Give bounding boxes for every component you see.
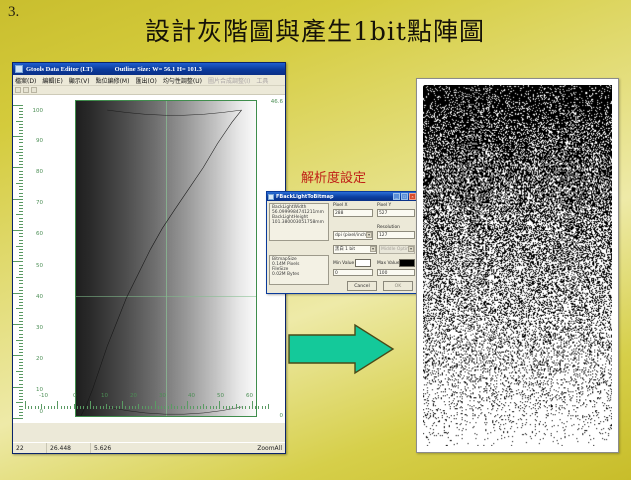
green-arrow-icon bbox=[287, 323, 395, 375]
dialog-icon bbox=[268, 194, 274, 200]
dialog-title: FBackLightToBitmap bbox=[276, 194, 393, 200]
x-tick-10: 10 bbox=[101, 393, 108, 399]
y-tick-70: 70 bbox=[36, 200, 43, 206]
chevron-down-icon[interactable]: ▾ bbox=[366, 232, 372, 238]
status-field-3: 5.626 bbox=[91, 443, 245, 453]
maximize-button[interactable]: □ bbox=[401, 193, 408, 200]
menu-item-export[interactable]: 匯出(O) bbox=[135, 76, 156, 85]
close-icon[interactable]: × bbox=[409, 193, 416, 200]
y-tick-100: 100 bbox=[33, 108, 44, 114]
editor-statusbar: 22 26.448 5.626 ZoomAll bbox=[13, 442, 285, 453]
y-tick-40: 40 bbox=[36, 294, 43, 300]
optimum-arrow-wrap: ▾ bbox=[379, 245, 415, 254]
pixel-y-input[interactable]: 527 bbox=[377, 209, 415, 217]
pixel-y-label: Pixel Y bbox=[377, 203, 391, 208]
min-value-color-swatch[interactable] bbox=[355, 259, 371, 267]
x-tick-20: 20 bbox=[130, 393, 137, 399]
unit-select-arrow-wrap: ▾ bbox=[333, 231, 373, 240]
backlight-height-value: 101.380003051758mm bbox=[272, 220, 326, 225]
chevron-down-icon: ▾ bbox=[408, 246, 414, 252]
cancel-button[interactable]: Cancel bbox=[347, 281, 377, 291]
ok-button[interactable]: OK bbox=[383, 281, 413, 291]
dithered-bitmap-image bbox=[423, 85, 612, 446]
y-tick-20: 20 bbox=[36, 356, 43, 362]
menu-item-edit[interactable]: 編輯(E) bbox=[42, 76, 62, 85]
annotation-resolution-setting: 解析度設定 bbox=[301, 167, 366, 186]
y-axis-ruler bbox=[13, 95, 23, 423]
menu-item-file[interactable]: 檔案(D) bbox=[15, 76, 36, 85]
dialog-titlebar[interactable]: FBackLightToBitmap _ □ × bbox=[267, 192, 417, 201]
y-tick-60: 60 bbox=[36, 231, 43, 237]
pixel-x-input[interactable]: 288 bbox=[333, 209, 373, 217]
x-tick-neg10: -10 bbox=[39, 393, 48, 399]
grayscale-gradient-plot[interactable] bbox=[75, 100, 257, 417]
page-title: 設計灰階圖與產生1bit點陣圖 bbox=[80, 12, 550, 48]
x-tick-50: 50 bbox=[217, 393, 224, 399]
chevron-down-icon[interactable]: ▾ bbox=[370, 246, 376, 252]
y-tick-90: 90 bbox=[36, 138, 43, 144]
max-value-input[interactable]: 100 bbox=[377, 269, 415, 276]
dialog-window-buttons[interactable]: _ □ × bbox=[393, 193, 416, 200]
y-tick-80: 80 bbox=[36, 169, 43, 175]
toolbar-open-icon[interactable] bbox=[23, 87, 29, 93]
y-tick-50: 50 bbox=[36, 263, 43, 269]
y-axis-tick-labels: 100 90 80 70 60 50 40 30 20 10 0 bbox=[23, 95, 45, 423]
min-value-input[interactable]: 0 bbox=[333, 269, 373, 276]
bitmap-info-box: BitmapSize 0.14M Pixels FileSize 0.02M B… bbox=[269, 255, 329, 285]
status-field-1: 22 bbox=[13, 443, 47, 453]
pixel-x-label: Pixel X bbox=[333, 203, 348, 208]
resolution-label: Resolution bbox=[377, 225, 400, 230]
editor-toolbar[interactable] bbox=[13, 86, 285, 95]
right-scale-max: 46.6 bbox=[271, 99, 283, 105]
status-zoom-mode: ZoomAll bbox=[245, 443, 285, 453]
dithered-bitmap-panel[interactable] bbox=[416, 78, 619, 453]
slide-number: 3. bbox=[8, 4, 19, 21]
app-icon bbox=[15, 65, 23, 73]
resolution-input[interactable]: 127 bbox=[377, 231, 415, 239]
menu-item-image-composite: 圖片合成調整(I) bbox=[208, 76, 250, 85]
x-tick-30: 30 bbox=[159, 393, 166, 399]
y-tick-30: 30 bbox=[36, 325, 43, 331]
toolbar-save-icon[interactable] bbox=[31, 87, 37, 93]
x-tick-40: 40 bbox=[188, 393, 195, 399]
backlight-info-box: BackLightWidth 56.0999984741211mm BackLi… bbox=[269, 203, 329, 241]
menu-item-view[interactable]: 顯示(V) bbox=[69, 76, 90, 85]
editor-menubar[interactable]: 檔案(D) 編輯(E) 顯示(V) 點位編修(M) 匯出(O) 均勻性調整(U)… bbox=[13, 75, 285, 86]
menu-item-tools: 工具 bbox=[256, 76, 268, 85]
editor-titlebar[interactable]: Gtools Data Editor (LT) Outline Size: W=… bbox=[13, 63, 285, 75]
x-tick-60: 60 bbox=[246, 393, 253, 399]
plot-area[interactable]: 100 90 80 70 60 50 40 30 20 10 0 46.6 0 … bbox=[13, 95, 285, 423]
editor-window-title: Gtools Data Editor (LT) bbox=[26, 66, 93, 73]
toolbar-new-icon[interactable] bbox=[15, 87, 21, 93]
min-value-label: Min Value bbox=[333, 261, 354, 266]
minimize-button[interactable]: _ bbox=[393, 193, 400, 200]
backlight-to-bitmap-dialog[interactable]: FBackLightToBitmap _ □ × BackLightWidth … bbox=[266, 191, 418, 294]
response-curve bbox=[76, 101, 256, 416]
color-depth-arrow-wrap: ▾ bbox=[333, 245, 377, 254]
menu-item-point-edit[interactable]: 點位編修(M) bbox=[96, 76, 130, 85]
max-value-color-swatch[interactable] bbox=[399, 259, 415, 267]
outline-size-readout: Outline Size: W= 56.1 H= 101.3 bbox=[115, 66, 202, 73]
dialog-body: BackLightWidth 56.0999984741211mm BackLi… bbox=[267, 201, 417, 295]
right-scale-min: 0 bbox=[280, 413, 284, 419]
dithered-bitmap-viewport bbox=[423, 85, 612, 446]
x-tick-0: 0 bbox=[73, 393, 77, 399]
y-tick-0: 0 bbox=[40, 409, 44, 415]
status-field-2: 26.448 bbox=[47, 443, 91, 453]
x-axis-ruler: -10 0 10 20 30 40 50 60 bbox=[13, 393, 285, 409]
gtools-editor-window[interactable]: Gtools Data Editor (LT) Outline Size: W=… bbox=[12, 62, 286, 454]
menu-item-uniformity[interactable]: 均勻性調整(U) bbox=[163, 76, 202, 85]
file-size-value: 0.02M Bytes bbox=[272, 272, 326, 277]
max-value-label: Max Value bbox=[377, 261, 400, 266]
